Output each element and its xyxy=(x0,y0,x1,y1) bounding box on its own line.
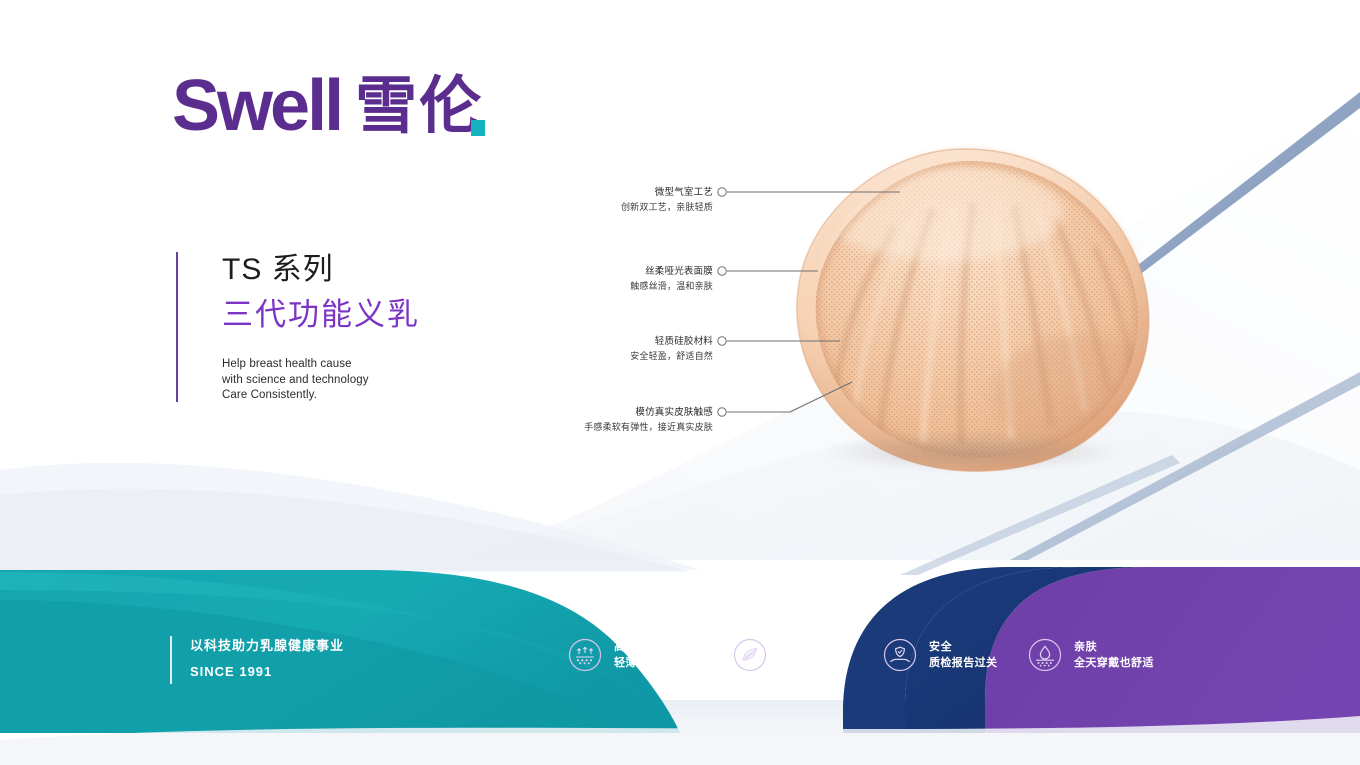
feature-3-title: 安全 xyxy=(929,639,997,656)
breathable-icon xyxy=(568,638,602,672)
feature-3-desc: 质检报告过关 xyxy=(929,655,997,672)
callout-2: 丝柔哑光表面膜 触感丝滑，温和亲肤 xyxy=(513,265,713,294)
feature-2-title: 轻盈舒适 xyxy=(779,639,836,656)
feature-lightweight-text: 轻盈舒适 无感不负担 xyxy=(779,639,836,672)
feature-skin-friendly-text: 亲肤 全天穿戴也舒适 xyxy=(1074,639,1154,672)
callout-1-desc: 创新双工艺，亲肤轻质 xyxy=(513,201,713,215)
droplet-icon xyxy=(1028,638,1062,672)
callout-1: 微型气室工艺 创新双工艺，亲肤轻质 xyxy=(513,186,713,215)
feature-4-desc: 全天穿戴也舒适 xyxy=(1074,655,1154,672)
callout-3: 轻质硅胶材料 安全轻盈，舒适自然 xyxy=(513,335,713,364)
callout-4: 模仿真实皮肤触感 手感柔软有弹性，接近真实皮肤 xyxy=(453,406,713,435)
feather-icon xyxy=(733,638,767,672)
company-tagline: 以科技助力乳腺健康事业 SINCE 1991 xyxy=(170,636,344,681)
feature-breathable-text: 高透气 轻薄透气不闷热 xyxy=(614,639,694,672)
feature-item-breathable: 高透气 轻薄透气不闷热 xyxy=(568,638,694,672)
shield-hand-icon xyxy=(883,638,917,672)
feature-4-title: 亲肤 xyxy=(1074,639,1154,656)
callout-2-desc: 触感丝滑，温和亲肤 xyxy=(513,280,713,294)
feature-item-safety: 安全 质检报告过关 xyxy=(883,638,997,672)
feature-safety-text: 安全 质检报告过关 xyxy=(929,639,997,672)
callout-4-desc: 手感柔软有弹性，接近真实皮肤 xyxy=(453,421,713,435)
poster-canvas: Swell 雪伦 TS 系列 三代功能义乳 Help breast health… xyxy=(0,0,1360,765)
tagline-rule xyxy=(170,636,172,684)
tagline-line-2: SINCE 1991 xyxy=(190,662,344,682)
callout-4-title: 模仿真实皮肤触感 xyxy=(453,406,713,421)
feature-2-desc: 无感不负担 xyxy=(779,655,836,672)
callout-3-title: 轻质硅胶材料 xyxy=(513,335,713,350)
callout-2-title: 丝柔哑光表面膜 xyxy=(513,265,713,280)
callout-3-desc: 安全轻盈，舒适自然 xyxy=(513,350,713,364)
feature-1-title: 高透气 xyxy=(614,639,694,656)
feature-1-desc: 轻薄透气不闷热 xyxy=(614,655,694,672)
callout-1-title: 微型气室工艺 xyxy=(513,186,713,201)
feature-item-lightweight: 轻盈舒适 无感不负担 xyxy=(733,638,836,672)
tagline-line-1: 以科技助力乳腺健康事业 xyxy=(190,636,344,656)
feature-item-skin-friendly: 亲肤 全天穿戴也舒适 xyxy=(1028,638,1154,672)
